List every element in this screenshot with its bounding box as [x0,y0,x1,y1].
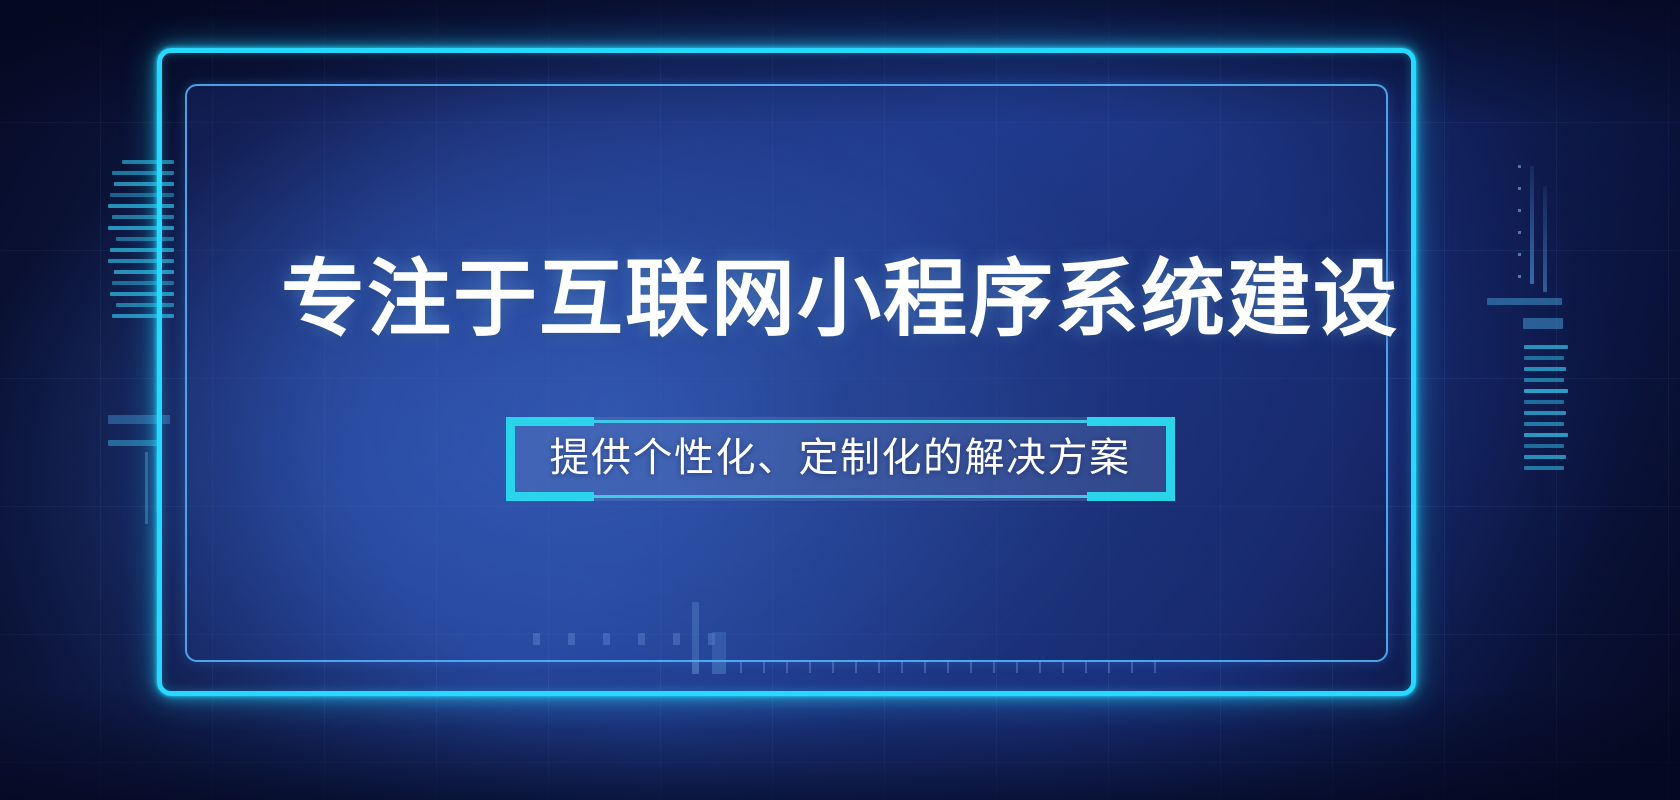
bracket-bottom-right-vertical [1166,457,1175,501]
bracket-bottom-right-horizontal [1087,492,1175,501]
bracket-top-left-horizontal [506,417,594,426]
bracket-top-right-vertical [1166,417,1175,461]
page-subtitle: 提供个性化、定制化的解决方案 [550,433,1131,483]
subtitle-bracket-box: 提供个性化、定制化的解决方案 [506,417,1175,501]
bracket-bottom-left-vertical [506,457,515,501]
banner-stage: 专注于互联网小程序系统建设 提供个性化、定制化的解决方案 [0,0,1680,800]
bracket-top-left-vertical [506,417,515,461]
bracket-bottom-line [594,495,1087,498]
banner-content: 专注于互联网小程序系统建设 提供个性化、定制化的解决方案 [0,0,1680,800]
page-title: 专注于互联网小程序系统建设 [281,253,1399,345]
bracket-top-line [594,420,1087,423]
bracket-bottom-left-horizontal [506,492,594,501]
bracket-top-right-horizontal [1087,417,1175,426]
